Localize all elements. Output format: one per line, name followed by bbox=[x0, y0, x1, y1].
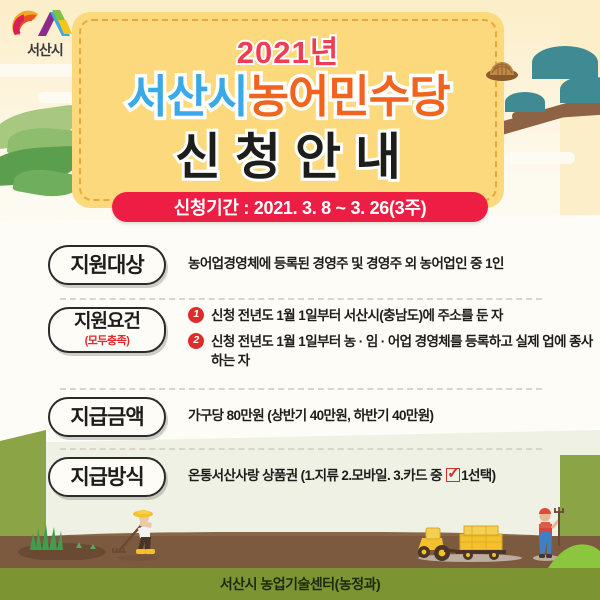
label-pill-target: 지원대상 bbox=[48, 245, 166, 285]
row-text-method: 온통서산사랑 상품권 (1.지류 2.모바일. 3.카드 중 1선택) bbox=[166, 450, 600, 484]
method-text-before: 온통서산사랑 상품권 (1.지류 2.모바일. 3.카드 중 bbox=[188, 468, 445, 483]
method-text-after: 1선택) bbox=[461, 468, 495, 483]
info-row-method: 지급방식 온통서산사랑 상품권 (1.지류 2.모바일. 3.카드 중 1선택) bbox=[0, 450, 600, 510]
row-text-requirements: 1 신청 전년도 1월 1일부터 서산시(충남도)에 주소를 둔 자 2 신청 … bbox=[166, 300, 600, 377]
pine-leaf-icon bbox=[505, 92, 545, 112]
tractor-hay-illustration bbox=[412, 514, 530, 562]
requirement-number: 1 bbox=[188, 307, 204, 323]
row-text-target: 농어업경영체에 등록된 경영주 및 경영주 외 농어업인 중 1인 bbox=[166, 238, 600, 272]
straw-hat-icon bbox=[485, 56, 519, 81]
checkbox-checked-icon[interactable] bbox=[446, 468, 460, 482]
grass-mound-illustration bbox=[548, 536, 600, 568]
info-row-target: 지원대상 농어업경영체에 등록된 경영주 및 경영주 외 농어업인 중 1인 bbox=[0, 238, 600, 300]
label-pill-method: 지급방식 bbox=[48, 457, 166, 497]
main-title-subject: 농어민수당 bbox=[248, 71, 450, 122]
poster-root: 서산시 2021년 서산시농어민수당 신청안내 신청기간 : 2021. 3. … bbox=[0, 0, 600, 600]
info-row-requirements: 지원요건 (모두충족) 1 신청 전년도 1월 1일부터 서산시(충남도)에 주… bbox=[0, 300, 600, 390]
label-pill-amount: 지급금액 bbox=[48, 397, 166, 437]
info-row-amount: 지급금액 가구당 80만원 (상반기 40만원, 하반기 40만원) bbox=[0, 390, 600, 450]
requirement-text: 신청 전년도 1월 1일부터 서산시(충남도)에 주소를 둔 자 bbox=[211, 306, 503, 326]
farmer-raking-illustration bbox=[110, 504, 166, 562]
requirement-text: 신청 전년도 1월 1일부터 농 · 임 · 어업 경영체를 등록하고 실제 업… bbox=[211, 332, 600, 371]
requirement-item: 1 신청 전년도 1월 1일부터 서산시(충남도)에 주소를 둔 자 bbox=[188, 306, 600, 326]
grass-and-soil-illustration bbox=[18, 516, 108, 560]
footer-bar: 서산시 농업기술센터(농정과) bbox=[0, 568, 600, 600]
subtitle: 신청안내 bbox=[72, 117, 504, 189]
main-title: 서산시농어민수당 bbox=[72, 60, 504, 125]
cloud-shape bbox=[505, 152, 575, 164]
pill-sublabel: (모두충족) bbox=[85, 332, 130, 348]
pill-label: 지급금액 bbox=[70, 407, 143, 428]
pill-label: 지원대상 bbox=[70, 255, 143, 276]
main-title-city: 서산시 bbox=[126, 71, 247, 122]
row-text-amount: 가구당 80만원 (상반기 40만원, 하반기 40만원) bbox=[166, 390, 600, 424]
pine-leaf-icon bbox=[560, 76, 600, 103]
seosan-city-logo: 서산시 bbox=[8, 6, 82, 64]
logo-text: 서산시 bbox=[8, 40, 82, 60]
pill-label: 지원요건 bbox=[74, 312, 140, 331]
logo-mark-icon bbox=[8, 6, 82, 42]
cloud-shape bbox=[0, 64, 76, 77]
pill-label: 지급방식 bbox=[70, 467, 143, 488]
application-period-banner: 신청기간 : 2021. 3. 8 ~ 3. 26(3주) bbox=[112, 192, 488, 222]
info-rows: 지원대상 농어업경영체에 등록된 경영주 및 경영주 외 농어업인 중 1인 지… bbox=[0, 238, 600, 510]
requirement-item: 2 신청 전년도 1월 1일부터 농 · 임 · 어업 경영체를 등록하고 실제… bbox=[188, 332, 600, 371]
label-pill-requirements: 지원요건 (모두충족) bbox=[48, 307, 166, 353]
requirement-number: 2 bbox=[188, 333, 204, 349]
title-card: 2021년 서산시농어민수당 신청안내 bbox=[72, 12, 504, 208]
pine-leaf-icon bbox=[532, 46, 598, 79]
